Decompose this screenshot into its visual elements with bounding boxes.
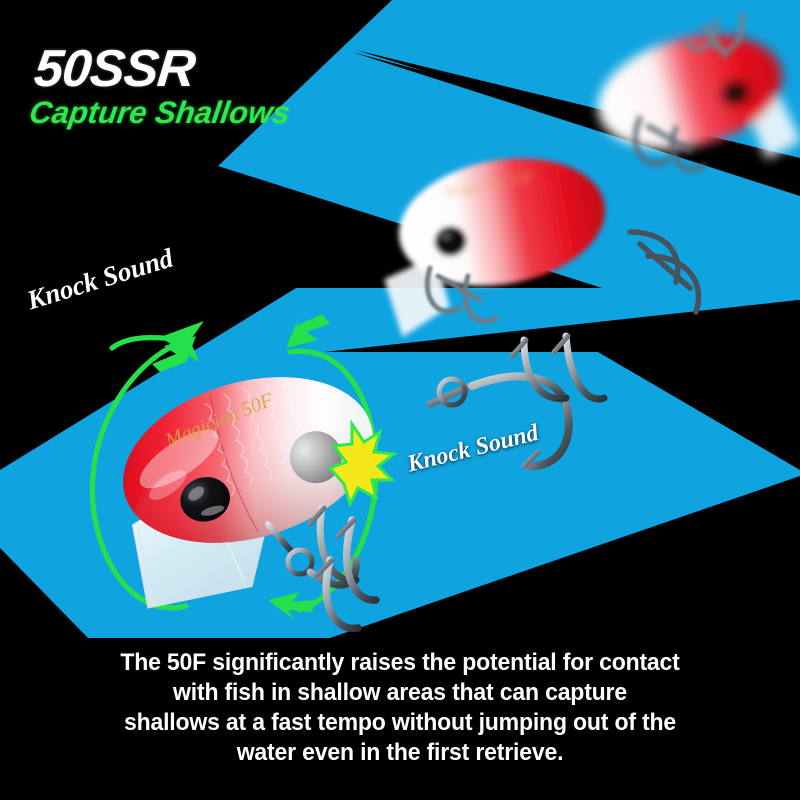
page-subtitle: Capture Shallows (27, 96, 292, 130)
caption-line-4: water even in the first retrieve. (24, 738, 776, 768)
caption-block: The 50F significantly raises the potenti… (24, 648, 776, 768)
headline-block: 50SSR Capture Shallows (32, 44, 292, 130)
page-title: 50SSR (32, 44, 297, 94)
caption-line-3: shallows at a fast tempo without jumping… (24, 708, 776, 738)
caption-line-1: The 50F significantly raises the potenti… (24, 648, 776, 678)
caption-line-2: with fish in shallow areas that can capt… (24, 678, 776, 708)
product-poster: Magician 50F (0, 0, 800, 800)
